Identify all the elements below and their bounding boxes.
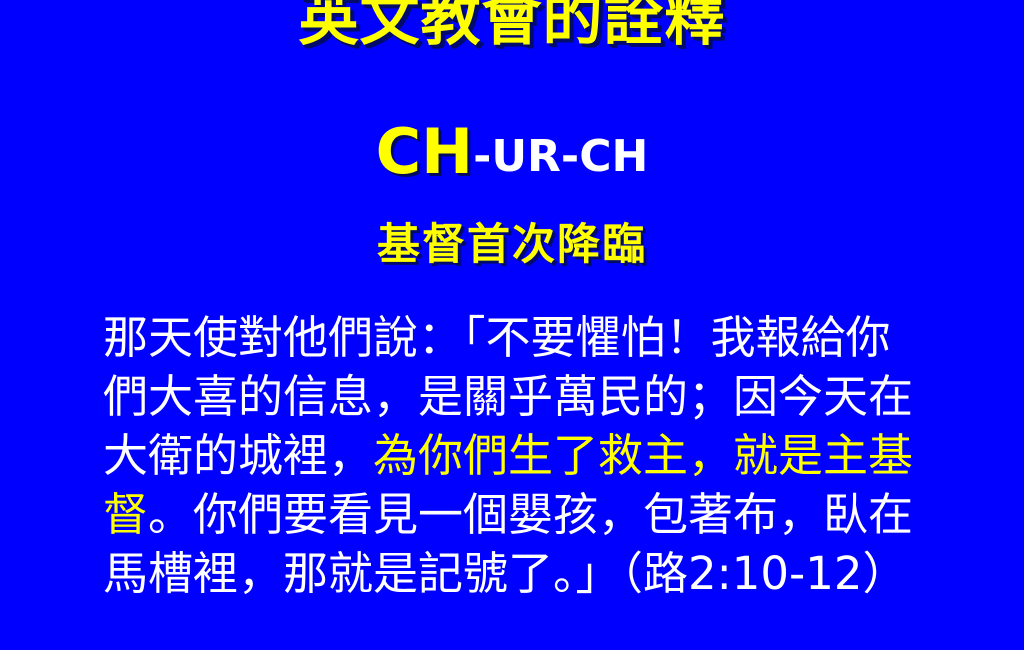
page-title: 英文教會的詮釋 [0,0,1024,53]
scripture-segment-highlight: 督 [103,488,148,541]
section-subtitle: 基督首次降臨 [0,222,1024,269]
acronym-highlight: CH [376,115,473,188]
scripture-segment: 大衛的城裡， [103,429,373,482]
scripture-line: 大衛的城裡，為你們生了救主，就是主基 [103,426,921,485]
acronym-heading: CH-UR-CH [0,121,1024,183]
slide-canvas: 英文教會的詮釋 CH-UR-CH 基督首次降臨 那天使對他們說：「不要懼怕！我報… [0,0,1024,650]
scripture-segment: 。你們要看見一個嬰孩，包著布，臥在 [148,488,913,541]
scripture-body: 那天使對他們說：「不要懼怕！我報給你 們大喜的信息，是關乎萬民的；因今天在 大衛… [103,308,921,603]
scripture-line: 那天使對他們說：「不要懼怕！我報給你 [103,308,921,367]
scripture-line: 們大喜的信息，是關乎萬民的；因今天在 [103,367,921,426]
scripture-line: 馬槽裡，那就是記號了。」（路2:10-12） [103,544,921,603]
scripture-segment: 那天使對他們說：「不要懼怕！我報給你 [103,311,891,364]
scripture-segment: 們大喜的信息，是關乎萬民的；因今天在 [103,370,913,423]
acronym-rest: -UR-CH [473,131,648,182]
scripture-line: 督。你們要看見一個嬰孩，包著布，臥在 [103,485,921,544]
scripture-segment-highlight: 為你們生了救主，就是主基 [373,429,913,482]
scripture-segment-reference: 馬槽裡，那就是記號了。」（路2:10-12） [103,547,908,600]
